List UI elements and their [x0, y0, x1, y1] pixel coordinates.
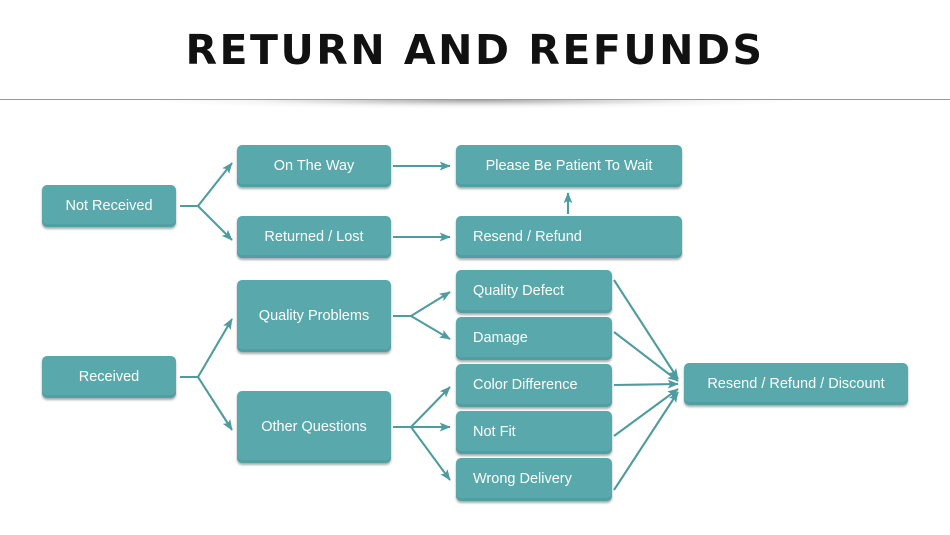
- slide-canvas: RETURN AND REFUNDS: [0, 0, 950, 535]
- node-resend-refund[interactable]: Resend / Refund: [456, 216, 682, 258]
- edge-wrong-delivery-to-resend-refund-discount: [614, 392, 678, 490]
- edge-other-questions-to-wrong-delivery: [393, 427, 450, 480]
- node-damage[interactable]: Damage: [456, 317, 612, 360]
- node-label: Damage: [473, 330, 528, 347]
- node-label: Wrong Delivery: [473, 471, 572, 488]
- edge-received-to-other-questions: [180, 377, 232, 430]
- edge-damage-to-resend-refund-discount: [614, 332, 678, 381]
- edge-not-received-to-on-the-way: [180, 163, 232, 206]
- edge-not-received-to-returned-lost: [180, 206, 232, 240]
- node-label: Quality Problems: [259, 308, 369, 325]
- edge-quality-problems-to-quality-defect: [393, 292, 450, 316]
- node-label: Returned / Lost: [264, 229, 363, 246]
- node-label: On The Way: [274, 158, 355, 175]
- node-label: Resend / Refund: [473, 229, 582, 246]
- node-returned-lost[interactable]: Returned / Lost: [237, 216, 391, 258]
- node-quality-defect[interactable]: Quality Defect: [456, 270, 612, 313]
- slide-header: RETURN AND REFUNDS: [0, 0, 950, 100]
- edge-other-questions-to-color-difference: [393, 387, 450, 427]
- node-wrong-delivery[interactable]: Wrong Delivery: [456, 458, 612, 501]
- edge-quality-problems-to-damage: [393, 316, 450, 339]
- node-label: Color Difference: [473, 377, 578, 394]
- node-not-fit[interactable]: Not Fit: [456, 411, 612, 454]
- node-label: Received: [79, 369, 139, 386]
- node-please-be-patient-to-wait[interactable]: Please Be Patient To Wait: [456, 145, 682, 187]
- node-label: Not Received: [65, 198, 152, 215]
- node-other-questions[interactable]: Other Questions: [237, 391, 391, 463]
- node-received[interactable]: Received: [42, 356, 176, 398]
- node-label: Quality Defect: [473, 283, 564, 300]
- edge-received-to-quality-problems: [180, 319, 232, 377]
- edge-color-difference-to-resend-refund-discount: [614, 384, 678, 385]
- node-label: Other Questions: [261, 419, 367, 436]
- node-quality-problems[interactable]: Quality Problems: [237, 280, 391, 352]
- node-label: Please Be Patient To Wait: [486, 158, 653, 175]
- node-resend-refund-discount[interactable]: Resend / Refund / Discount: [684, 363, 908, 405]
- node-label: Not Fit: [473, 424, 516, 441]
- node-on-the-way[interactable]: On The Way: [237, 145, 391, 187]
- node-color-difference[interactable]: Color Difference: [456, 364, 612, 407]
- flowchart-diagram: Not Received On The Way Returned / Lost …: [0, 100, 950, 535]
- node-label: Resend / Refund / Discount: [707, 376, 884, 393]
- page-title: RETURN AND REFUNDS: [0, 26, 950, 74]
- edge-quality-defect-to-resend-refund-discount: [614, 280, 678, 379]
- node-not-received[interactable]: Not Received: [42, 185, 176, 227]
- edge-not-fit-to-resend-refund-discount: [614, 389, 678, 436]
